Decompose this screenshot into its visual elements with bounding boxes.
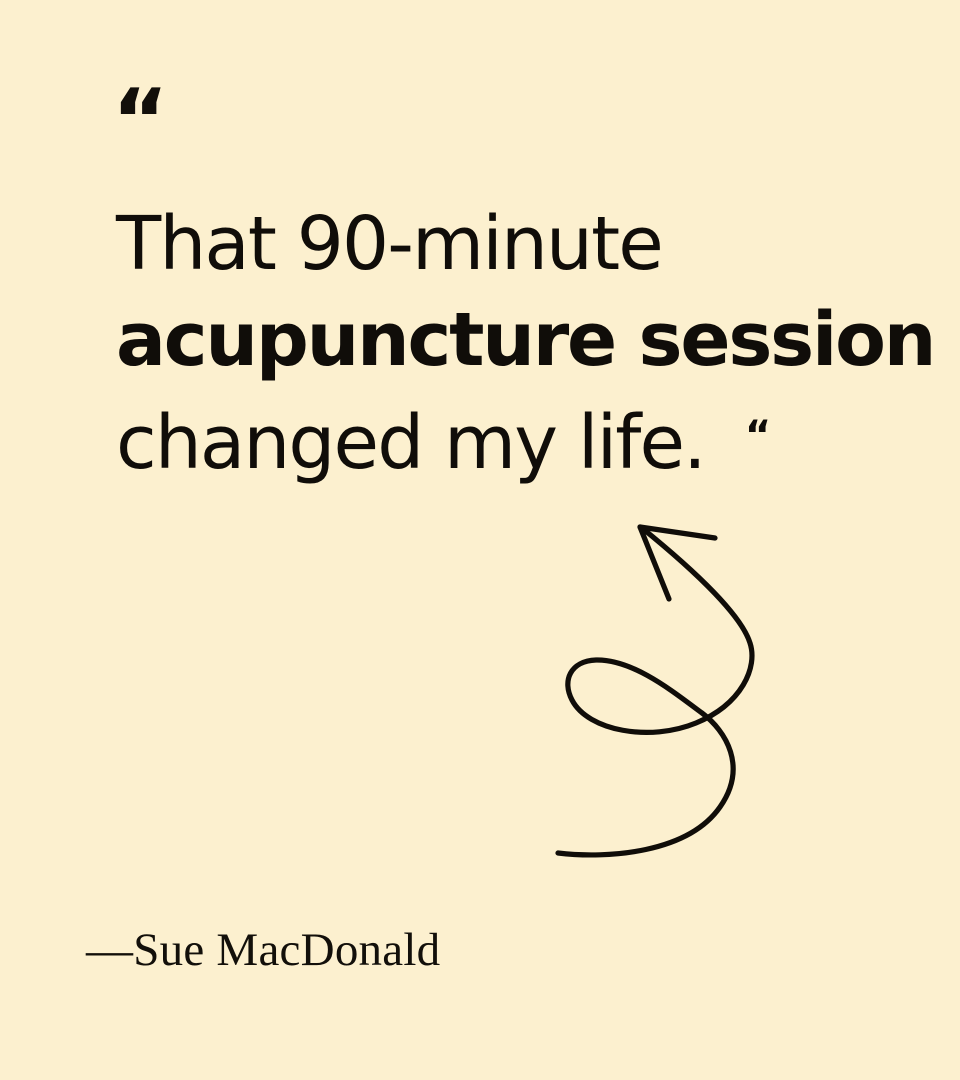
attribution-name: —Sue MacDonald	[86, 925, 440, 977]
quote-line-1: That 90-minute	[116, 196, 876, 292]
opening-quote-mark-icon: “	[112, 78, 167, 164]
curly-loop-arrow-icon	[530, 495, 780, 885]
quote-line-3-wrap: changed my life.“	[116, 388, 876, 484]
testimonial-quote-card: “ That 90-minute acupuncture session cha…	[0, 0, 960, 1080]
closing-quote-mark-icon: “	[745, 413, 771, 459]
quote-text: That 90-minute acupuncture session chang…	[116, 196, 876, 484]
quote-line-3: changed my life.	[116, 400, 705, 486]
quote-line-2-emphasis: acupuncture session	[116, 292, 876, 388]
